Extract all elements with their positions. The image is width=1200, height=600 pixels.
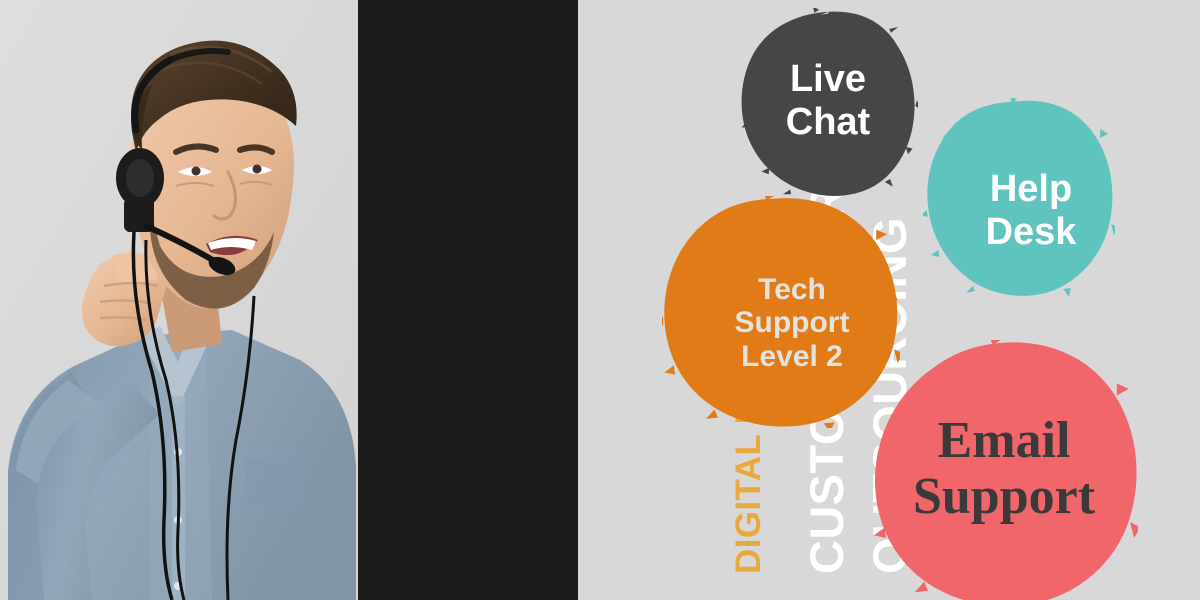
service-label-email-support: Email Support <box>913 413 1095 525</box>
service-blob-help-desk[interactable]: Help Desk <box>923 98 1115 298</box>
customer-care-banner: DIGITAL DRIVEN CUSTOMER CARE OUTSOURCING… <box>0 0 1200 600</box>
service-blob-tech-support[interactable]: Tech Support Level 2 <box>662 196 900 428</box>
service-blob-live-chat[interactable]: Live Chat <box>738 8 918 198</box>
service-blobs: Live Chat Help Desk Tech Support Level 2… <box>578 0 1200 600</box>
service-blob-email-support[interactable]: Email Support <box>874 340 1138 600</box>
service-label-live-chat: Live Chat <box>786 58 870 143</box>
agent-photo <box>0 0 358 600</box>
service-label-tech-support: Tech Support Level 2 <box>735 273 850 374</box>
title-band: DIGITAL DRIVEN CUSTOMER CARE OUTSOURCING <box>358 0 578 600</box>
service-label-help-desk: Help Desk <box>986 168 1077 253</box>
